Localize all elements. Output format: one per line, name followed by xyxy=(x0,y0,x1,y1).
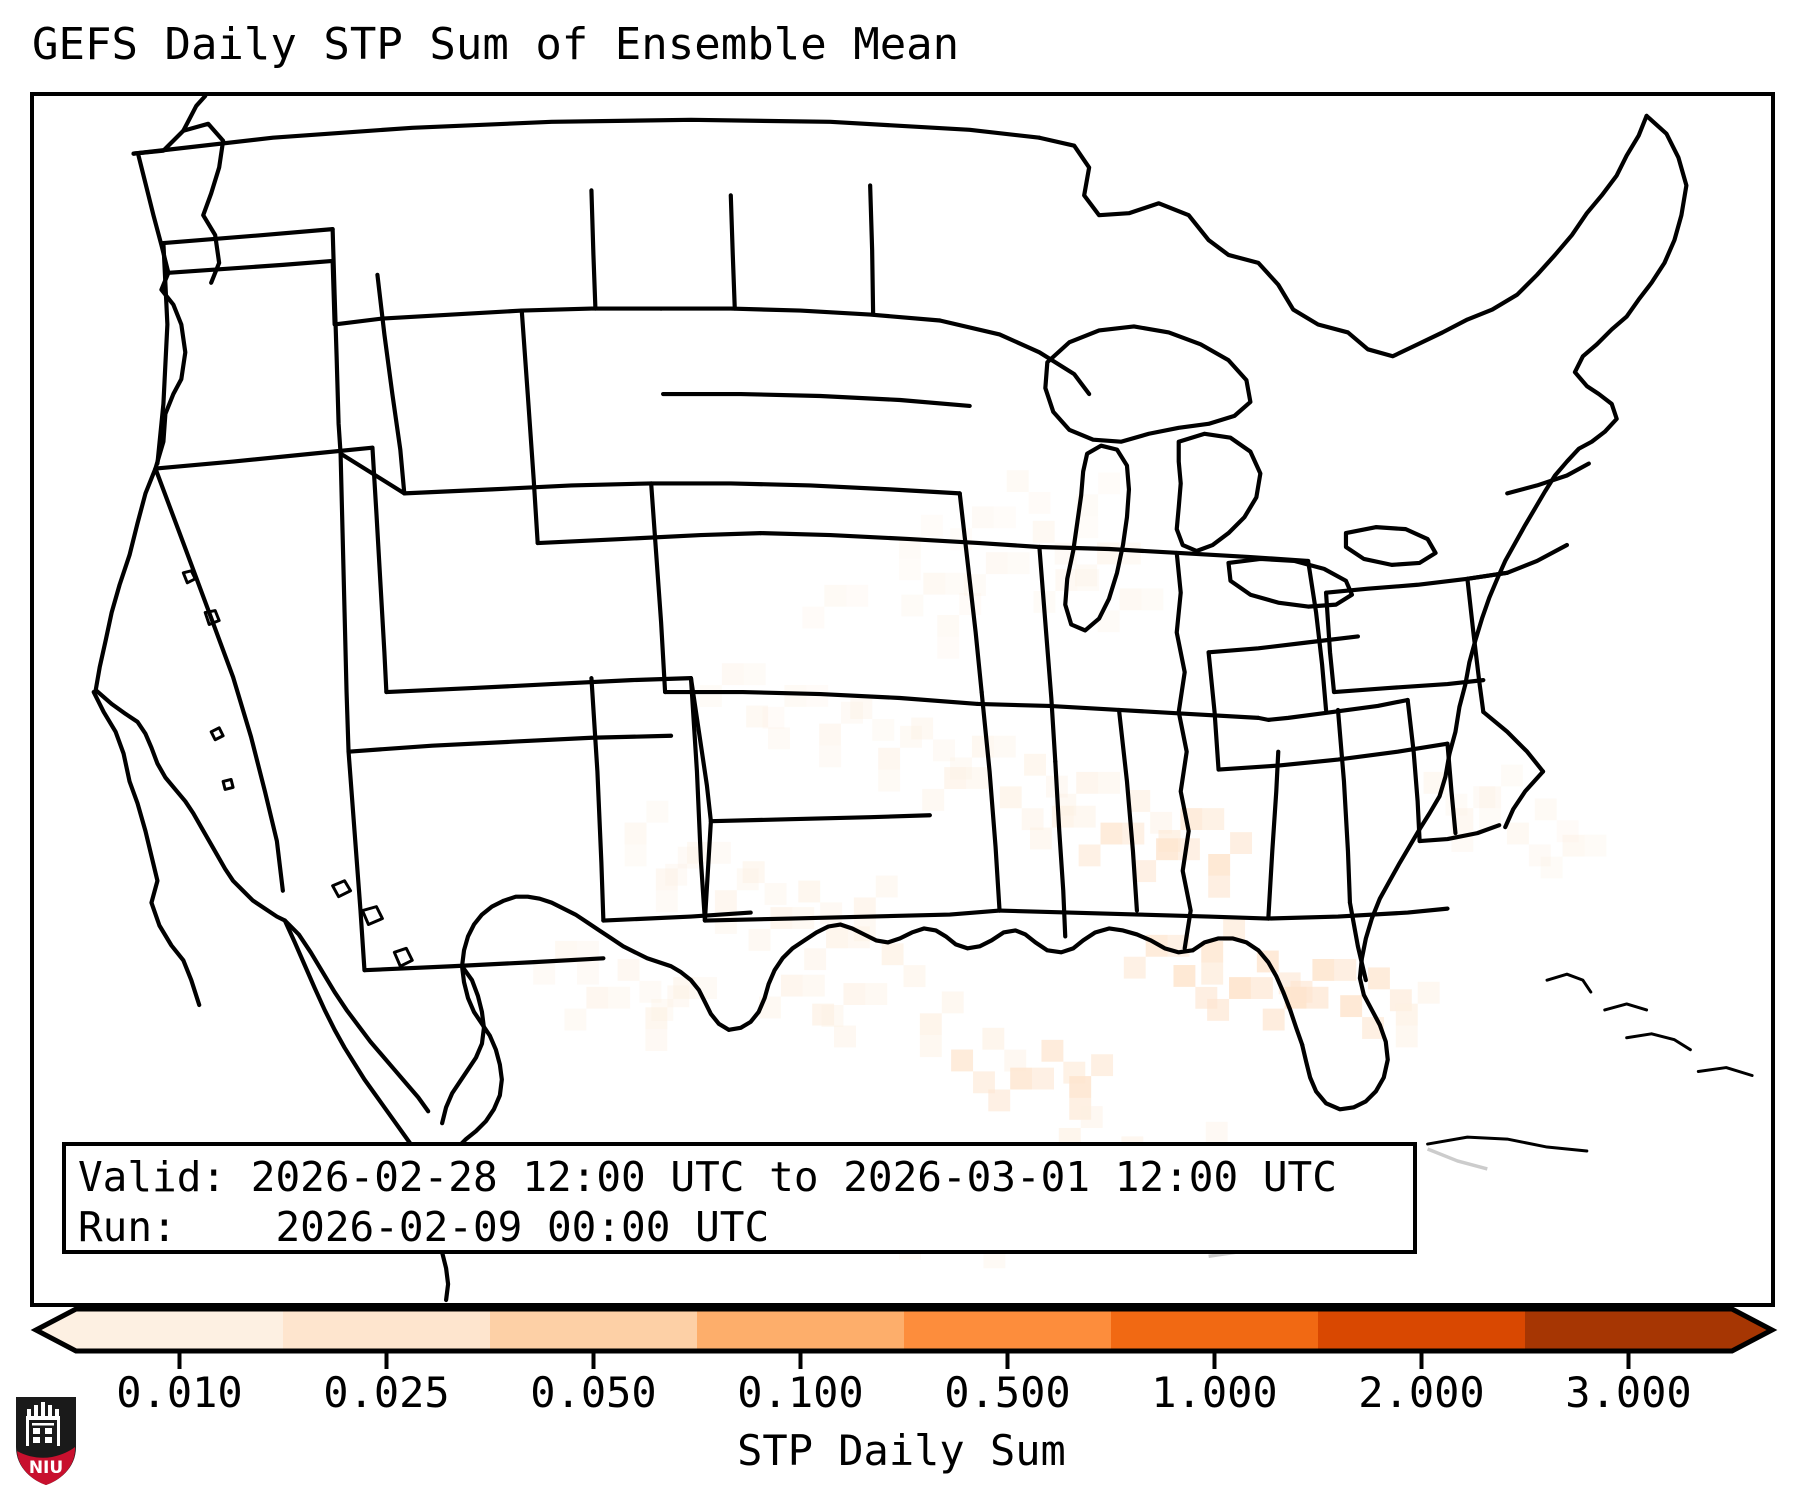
colorbar-tick-label: 3.000 xyxy=(1565,1367,1691,1419)
colorbar-segment xyxy=(1111,1309,1319,1351)
colorbar-svg xyxy=(34,1305,1774,1355)
colorbar-segment xyxy=(490,1309,698,1351)
run-time-line: Run: 2026-02-09 00:00 UTC xyxy=(78,1202,1403,1252)
colorbar-tick-label: 1.000 xyxy=(1151,1367,1277,1419)
colorbar-segment xyxy=(283,1309,491,1351)
niu-logo-text: NIU xyxy=(29,1458,63,1478)
colorbar-segment xyxy=(904,1309,1112,1351)
colorbar-tick-label: 2.000 xyxy=(1358,1367,1484,1419)
map-axes-frame xyxy=(30,92,1775,1307)
colorbar-segment xyxy=(76,1309,284,1351)
colorbar-tick-label: 0.050 xyxy=(530,1367,656,1419)
niu-shield-icon: NIU xyxy=(14,1395,78,1487)
geography-layer xyxy=(34,96,1771,1303)
colorbar-extend-max xyxy=(1732,1309,1772,1351)
colorbar xyxy=(34,1305,1774,1355)
gefs-stp-map-figure: GEFS Daily STP Sum of Ensemble Mean xyxy=(0,0,1803,1500)
colorbar-segment xyxy=(697,1309,905,1351)
page-title: GEFS Daily STP Sum of Ensemble Mean xyxy=(32,18,959,72)
colorbar-tick-label: 0.500 xyxy=(944,1367,1070,1419)
colorbar-axis-label: STP Daily Sum xyxy=(0,1425,1803,1477)
colorbar-segment xyxy=(1525,1309,1733,1351)
valid-run-info-box: Valid: 2026-02-28 12:00 UTC to 2026-03-0… xyxy=(62,1142,1417,1254)
colorbar-extend-min xyxy=(36,1309,76,1351)
niu-logo: NIU xyxy=(14,1395,78,1487)
colorbar-tick-label: 0.025 xyxy=(323,1367,449,1419)
valid-time-line: Valid: 2026-02-28 12:00 UTC to 2026-03-0… xyxy=(78,1152,1403,1202)
colorbar-tick-label: 0.010 xyxy=(116,1367,242,1419)
colorbar-segment xyxy=(1318,1309,1526,1351)
colorbar-tick-labels: 0.0100.0250.0500.1000.5001.0002.0003.000 xyxy=(0,1367,1803,1423)
colorbar-tick-label: 0.100 xyxy=(737,1367,863,1419)
